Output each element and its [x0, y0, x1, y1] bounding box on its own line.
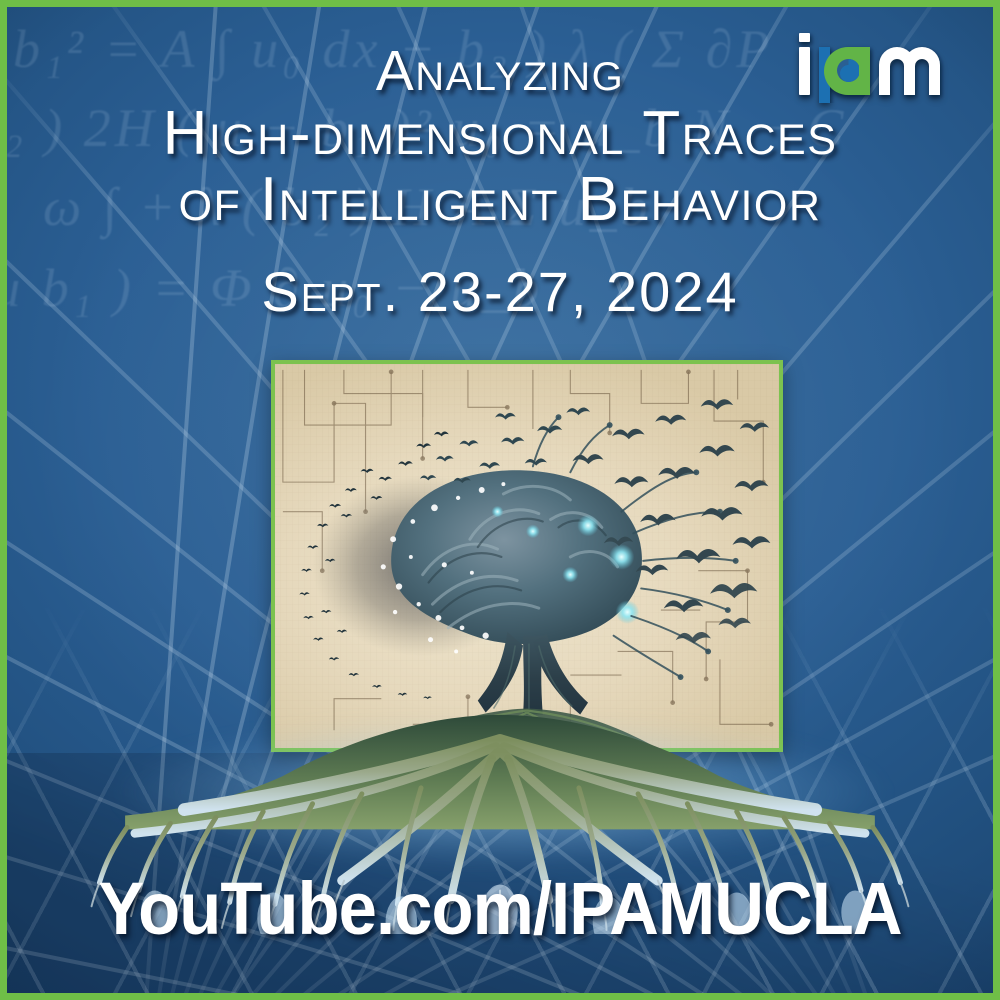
ipam-logo[interactable]	[793, 25, 971, 103]
brain-tree-illustration	[275, 364, 779, 750]
logo-letter-m-right	[904, 47, 940, 95]
youtube-url[interactable]: YouTube.com/IPAMUCLA	[42, 866, 959, 951]
artwork-frame	[271, 360, 783, 752]
root-flare	[393, 709, 661, 750]
logo-letter-i-stem	[799, 47, 810, 95]
poster-root: b₁² = A ∫ u₀ dx − b₂ ) λ ( Σ ∂P b₂ ) 2H …	[0, 0, 1000, 1000]
logo-letter-a-stem	[859, 47, 870, 95]
tree-trunk	[478, 632, 523, 713]
logo-letter-i-dot	[799, 33, 810, 42]
